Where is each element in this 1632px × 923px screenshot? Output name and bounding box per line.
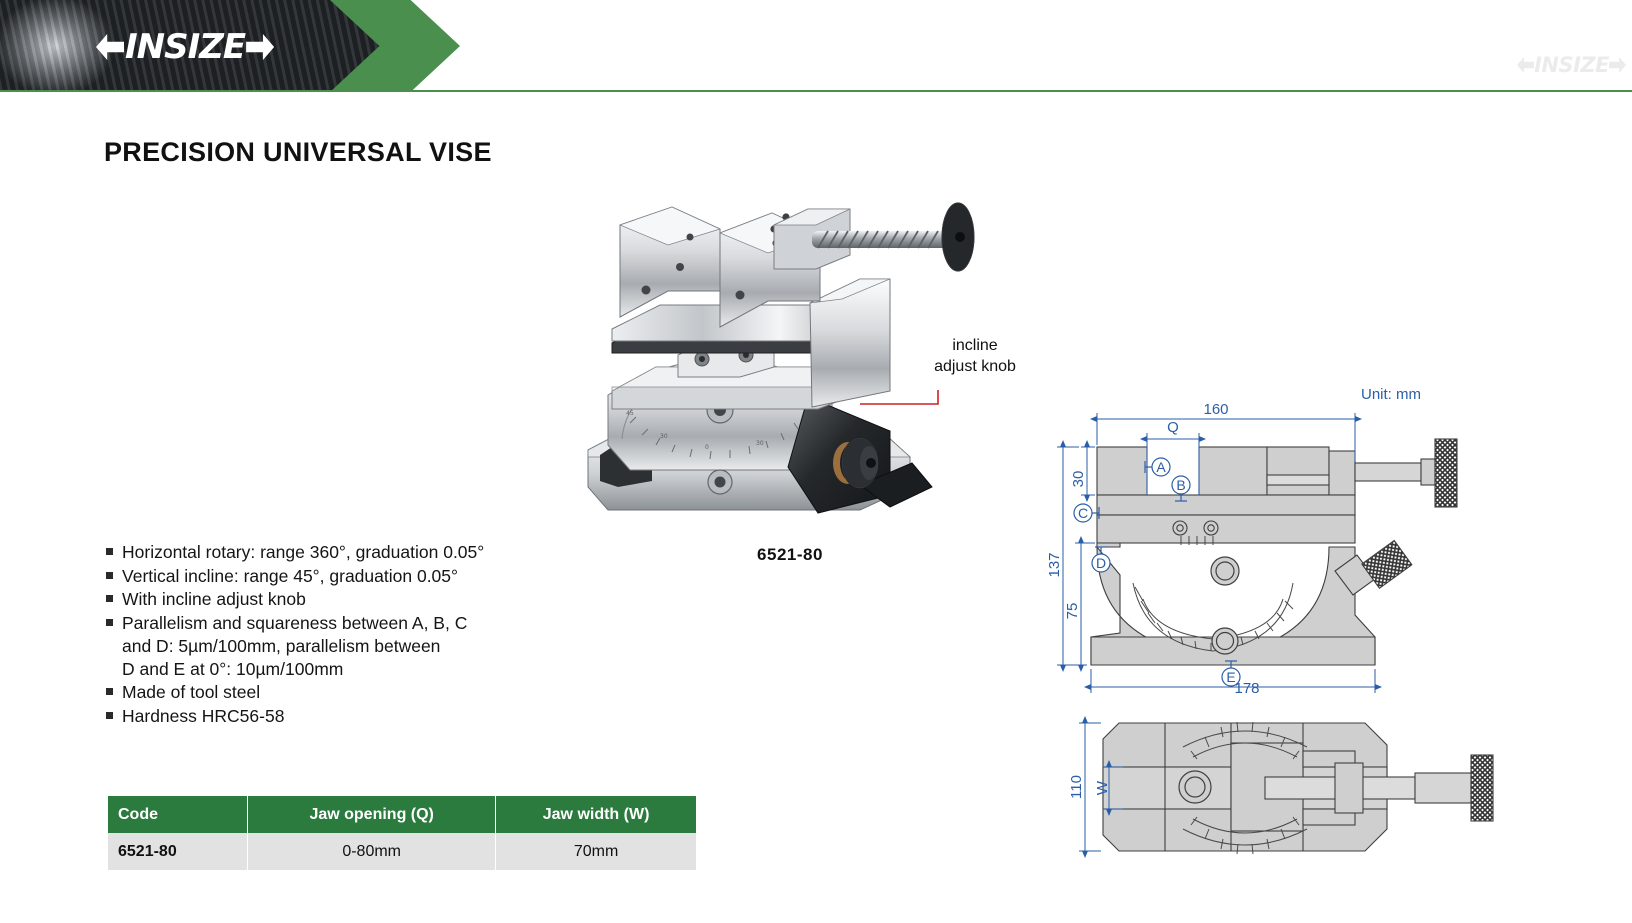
datum-A: A xyxy=(1145,458,1170,476)
square-bullet-icon xyxy=(106,572,113,579)
knurled-handle-front xyxy=(1435,439,1457,507)
watermark-text: INSIZE xyxy=(1534,55,1609,76)
header-green-rule xyxy=(0,90,1632,92)
square-bullet-icon xyxy=(106,619,113,626)
column-header-jaw-width: Jaw width (W) xyxy=(496,796,696,833)
feature-text: With incline adjust knob xyxy=(122,588,306,611)
list-item: Hardness HRC56-58 xyxy=(106,705,576,728)
dim-Q: Q xyxy=(1167,419,1179,436)
svg-text:30: 30 xyxy=(756,440,764,447)
svg-text:D: D xyxy=(1096,555,1106,571)
cell-jaw-opening: 0-80mm xyxy=(248,833,496,870)
technical-drawings: Unit: mm xyxy=(1035,375,1595,875)
table-row: 6521-80 0-80mm 70mm xyxy=(108,833,696,870)
svg-text:45: 45 xyxy=(626,410,634,417)
knurled-handle-top xyxy=(1471,755,1493,821)
datum-C: C xyxy=(1074,504,1099,522)
svg-text:E: E xyxy=(1226,669,1235,685)
svg-text:0: 0 xyxy=(705,444,709,451)
feature-list: Horizontal rotary: range 360°, graduatio… xyxy=(106,541,576,728)
feature-text: Made of tool steel xyxy=(122,681,260,704)
dim-30: 30 xyxy=(1070,471,1087,488)
square-bullet-icon xyxy=(106,548,113,555)
product-code-label: 6521-80 xyxy=(700,545,880,565)
cell-jaw-width: 70mm xyxy=(496,833,696,870)
logo-text: INSIZE xyxy=(125,30,245,64)
feature-text: Vertical incline: range 45°, graduation … xyxy=(122,565,458,588)
dim-160: 160 xyxy=(1203,401,1228,418)
svg-text:B: B xyxy=(1176,477,1185,493)
callout-leader-line xyxy=(860,390,982,420)
table-header-row: Code Jaw opening (Q) Jaw width (W) xyxy=(108,796,696,833)
incline-adjust-knob-callout: incline adjust knob xyxy=(900,335,1050,377)
insize-logo: INSIZE xyxy=(96,27,274,67)
square-bullet-icon xyxy=(106,712,113,719)
unit-label: Unit: mm xyxy=(1361,386,1421,403)
column-header-jaw-opening: Jaw opening (Q) xyxy=(248,796,496,833)
square-bullet-icon xyxy=(106,688,113,695)
list-item: Made of tool steel xyxy=(106,681,576,704)
list-item: Parallelism and squareness between A, B,… xyxy=(106,612,576,681)
list-item: Horizontal rotary: range 360°, graduatio… xyxy=(106,541,576,564)
dim-137: 137 xyxy=(1046,552,1063,577)
insize-watermark-logo: INSIZE xyxy=(1517,52,1626,78)
dim-75: 75 xyxy=(1064,603,1081,620)
svg-text:30: 30 xyxy=(660,433,668,440)
page-title: PRECISION UNIVERSAL VISE xyxy=(104,137,492,168)
product-image-area: 4530 03045 xyxy=(560,195,1030,585)
feature-text: Parallelism and squareness between A, B,… xyxy=(122,612,467,681)
datum-D: D xyxy=(1092,547,1110,572)
dim-110: 110 xyxy=(1068,775,1085,799)
feature-text: Horizontal rotary: range 360°, graduatio… xyxy=(122,541,484,564)
logo-left-arrow-icon xyxy=(96,34,124,60)
watermark-right-arrow-icon xyxy=(1609,57,1626,73)
list-item: Vertical incline: range 45°, graduation … xyxy=(106,565,576,588)
cell-code: 6521-80 xyxy=(108,833,248,870)
column-header-code: Code xyxy=(108,796,248,833)
list-item: With incline adjust knob xyxy=(106,588,576,611)
specification-table: Code Jaw opening (Q) Jaw width (W) 6521-… xyxy=(108,796,696,870)
watermark-left-arrow-icon xyxy=(1517,57,1534,73)
drawing-views: 160 Q 30 137 75 178 A B C xyxy=(1035,375,1595,875)
dim-W: W xyxy=(1094,780,1111,795)
feature-text: Hardness HRC56-58 xyxy=(122,705,284,728)
svg-text:A: A xyxy=(1156,459,1166,475)
square-bullet-icon xyxy=(106,595,113,602)
svg-text:C: C xyxy=(1078,505,1088,521)
page-header: INSIZE INSIZE xyxy=(0,0,1632,92)
logo-right-arrow-icon xyxy=(246,34,274,60)
